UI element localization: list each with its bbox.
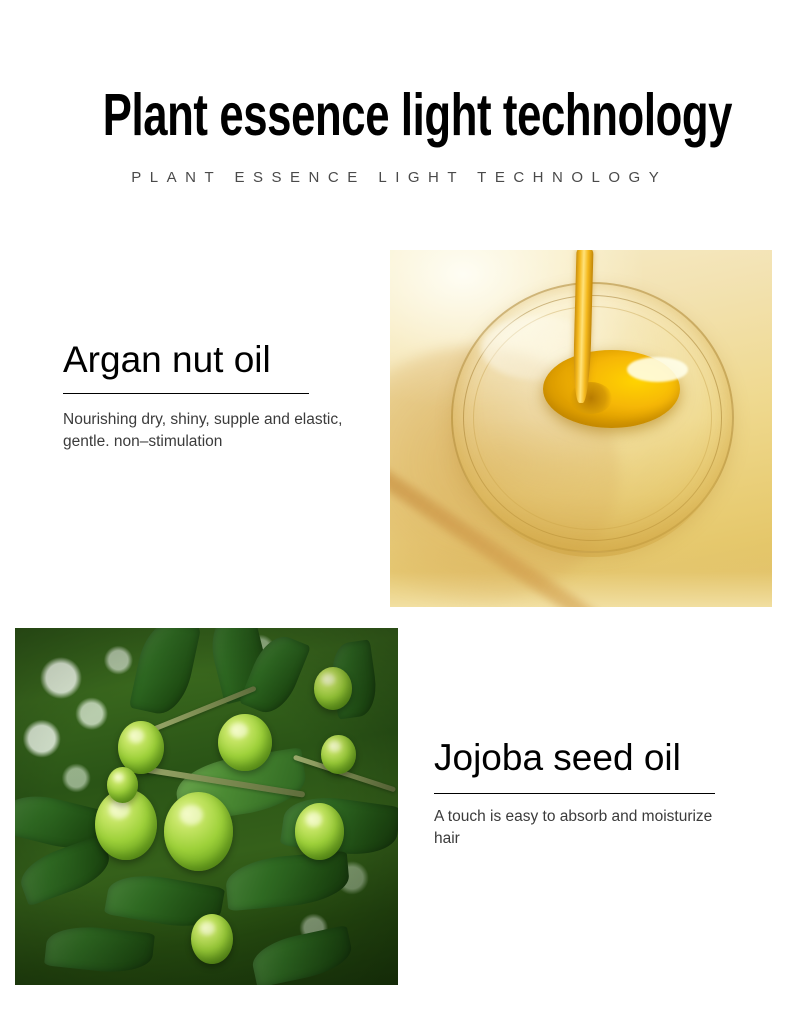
olive-tree-photo xyxy=(15,628,398,985)
argan-title-divider xyxy=(63,393,309,394)
argan-section-title: Argan nut oil xyxy=(63,338,271,382)
jojoba-section-title: Jojoba seed oil xyxy=(434,736,681,780)
argan-section-description: Nourishing dry, shiny, supple and elasti… xyxy=(63,409,363,453)
jojoba-section-description: A touch is easy to absorb and moisturize… xyxy=(434,806,724,850)
oil-puddle-highlight xyxy=(627,357,688,382)
page-title: Plant essence light technology xyxy=(103,84,688,146)
jojoba-title-divider xyxy=(434,793,715,794)
olive-vignette xyxy=(15,628,398,985)
argan-oil-photo xyxy=(390,250,772,607)
page-subtitle: PLANT ESSENCE LIGHT TECHNOLOGY xyxy=(0,168,790,188)
